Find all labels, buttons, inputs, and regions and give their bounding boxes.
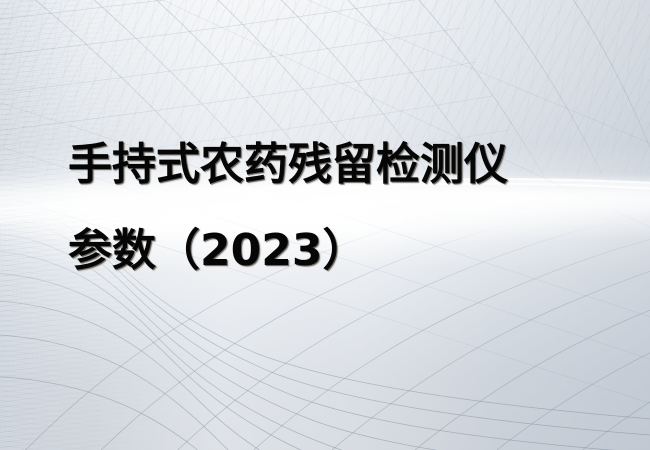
banner-image: 手持式农药残留检测仪 参数（2023） — [0, 0, 650, 450]
banner-title: 手持式农药残留检测仪 参数（2023） — [68, 122, 608, 294]
title-line-1: 手持式农药残留检测仪 — [68, 122, 608, 208]
title-line-2: 参数（2023） — [68, 208, 608, 294]
